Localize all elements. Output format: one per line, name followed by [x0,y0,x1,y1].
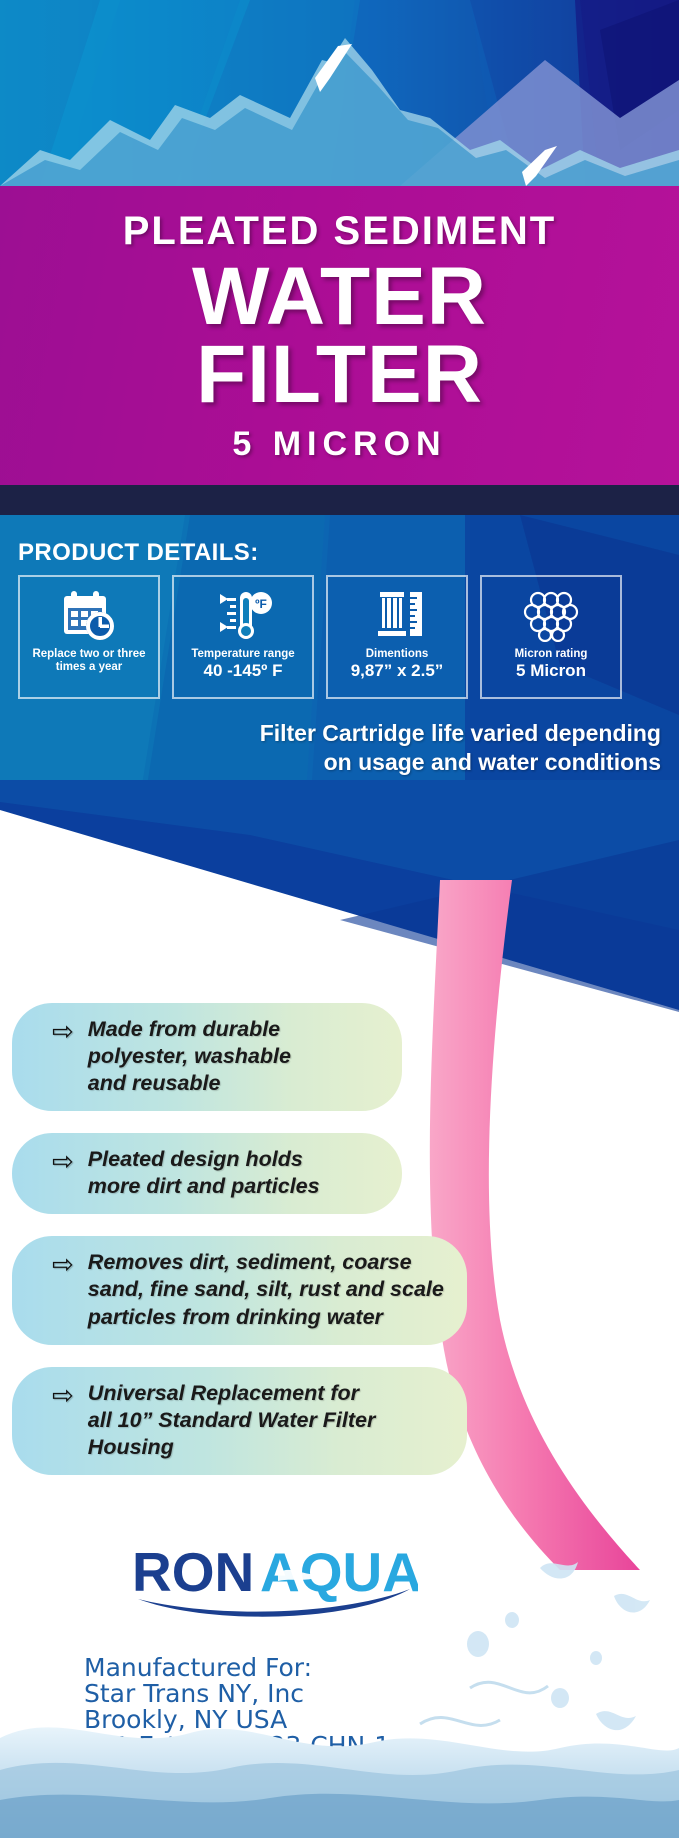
micron-subtitle: 5 MICRON [232,425,446,464]
micron-mesh-icon [522,585,580,645]
cartridge-ruler-icon [368,585,426,645]
product-details-heading: PRODUCT DETAILS: [18,539,259,567]
feature-list: ⇨ Made from durable polyester, washable … [12,1003,532,1497]
feature-pill: ⇨ Made from durable polyester, washable … [12,1003,402,1111]
feature-text: Pleated design holds more dirt and parti… [88,1146,320,1200]
title-banner: PLEATED SEDIMENT WATER FILTER 5 MICRON [0,186,679,485]
ronaqua-logo: RON AQUA [128,1533,418,1619]
detail-value-dimensions: 9,87” x 2.5” [351,662,444,681]
product-details-boxes: Replace two or three times a year [18,575,666,699]
detail-label-micron: Micron rating [515,648,588,661]
manufacturer-info: Manufactured For: Star Trans NY, Inc Bro… [84,1655,390,1759]
arrow-right-icon: ⇨ [52,1148,74,1174]
detail-label-dimensions: Dimentions [366,648,429,661]
product-title-line2: FILTER [196,333,483,417]
detail-box-replacement: Replace two or three times a year [18,575,160,699]
detail-box-dimensions: Dimentions 9,87” x 2.5” [326,575,468,699]
feature-pill: ⇨ Pleated design holds more dirt and par… [12,1133,402,1214]
detail-box-micron: Micron rating 5 Micron [480,575,622,699]
navy-divider [0,485,679,515]
logo-text-ron: RON [132,1541,254,1603]
product-title-line1: WATER [192,257,487,337]
cartridge-life-note: Filter Cartridge life varied depending o… [241,719,661,778]
feature-pill: ⇨ Universal Replacement for all 10” Stan… [12,1367,467,1475]
arrow-right-icon: ⇨ [52,1251,74,1277]
detail-box-temperature: ºF Temperature range 40 -145º F [172,575,314,699]
thermometer-fahrenheit-icon: ºF [214,585,272,645]
mountain-range-graphic [0,0,679,186]
feature-pill: ⇨ Removes dirt, sediment, coarse sand, f… [12,1236,467,1344]
calendar-clock-icon [60,585,118,645]
svg-text:ºF: ºF [255,597,267,611]
hero-mountain-banner [0,0,679,186]
arrow-right-icon: ⇨ [52,1382,74,1408]
detail-label-temperature: Temperature range [191,648,294,661]
feature-text: Universal Replacement for all 10” Standa… [88,1380,447,1461]
detail-value-micron: 5 Micron [516,662,586,681]
detail-label-replacement: Replace two or three times a year [24,648,154,674]
feature-text: Made from durable polyester, washable an… [88,1016,291,1097]
detail-value-temperature: 40 -145º F [204,662,283,681]
arrow-right-icon: ⇨ [52,1018,74,1044]
feature-text: Removes dirt, sediment, coarse sand, fin… [88,1249,444,1330]
product-eyebrow: PLEATED SEDIMENT [123,211,557,251]
